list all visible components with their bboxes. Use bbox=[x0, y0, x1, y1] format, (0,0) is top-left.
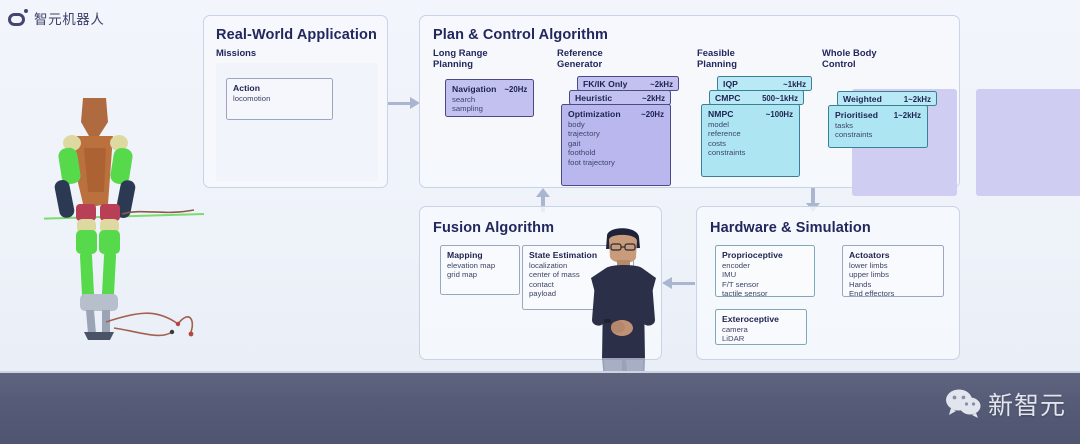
stage-floor bbox=[0, 373, 1080, 444]
card-proprioceptive-items: encoder IMU F/T sensor tactile sensor bbox=[722, 261, 808, 299]
card-optimization-items: body trajectory gait foothold foot traje… bbox=[568, 120, 664, 167]
card-fk-ik-only-name: FK/IK Only bbox=[583, 79, 627, 89]
card-actoators[interactable]: Actoators lower limbs upper limbs Hands … bbox=[842, 245, 944, 297]
card-optimization-rate: ~20Hz bbox=[641, 110, 664, 119]
stage-background: 智元机器人 Real-World Application Missions Ac… bbox=[0, 0, 1080, 444]
panel-title-real-world-application: Real-World Application bbox=[216, 27, 377, 43]
card-cmpc-rate: 500~1kHz bbox=[762, 94, 798, 103]
card-actoators-items: lower limbs upper limbs Hands End effect… bbox=[849, 261, 937, 299]
card-navigation-name: Navigation bbox=[452, 84, 496, 94]
column-feasible-planning: Feasible Planning bbox=[697, 47, 817, 70]
card-prioritised[interactable]: Prioritised 1~2kHz tasks constraints bbox=[828, 105, 928, 148]
card-heuristic-rate: ~2kHz bbox=[642, 94, 665, 103]
column-whole-body-control: Whole Body Control bbox=[822, 47, 942, 70]
card-exteroceptive-name: Exteroceptive bbox=[722, 314, 779, 324]
card-exteroceptive[interactable]: Exteroceptive camera LiDAR bbox=[715, 309, 807, 345]
card-iqp-rate: ~1kHz bbox=[783, 80, 806, 89]
card-weighted-rate: 1~2kHz bbox=[904, 95, 931, 104]
card-iqp[interactable]: IQP ~1kHz bbox=[717, 76, 812, 91]
card-action-items: locomotion bbox=[233, 94, 326, 103]
card-nmpc[interactable]: NMPC ~100Hz model reference costs constr… bbox=[701, 104, 800, 177]
column-title-whole-body-control: Whole Body Control bbox=[822, 47, 942, 70]
card-proprioceptive[interactable]: Proprioceptive encoder IMU F/T sensor ta… bbox=[715, 245, 815, 297]
card-nmpc-rate: ~100Hz bbox=[766, 110, 793, 119]
wechat-watermark: 新智元 bbox=[945, 386, 1066, 422]
card-cmpc[interactable]: CMPC 500~1kHz bbox=[709, 90, 804, 105]
card-exteroceptive-items: camera LiDAR bbox=[722, 325, 800, 344]
card-iqp-name: IQP bbox=[723, 79, 738, 89]
presentation-slide: 智元机器人 Real-World Application Missions Ac… bbox=[0, 0, 1080, 373]
card-fk-ik-only[interactable]: FK/IK Only ~2kHz bbox=[577, 76, 679, 91]
card-mapping[interactable]: Mapping elevation map grid map bbox=[440, 245, 520, 295]
card-cmpc-name: CMPC bbox=[715, 93, 741, 103]
card-action-name: Action bbox=[233, 83, 260, 93]
card-mapping-items: elevation map grid map bbox=[447, 261, 513, 280]
panel-title-hardware-simulation: Hardware & Simulation bbox=[710, 220, 871, 236]
group-missions: Action locomotion bbox=[216, 63, 378, 181]
card-navigation[interactable]: Navigation ~20Hz search sampling bbox=[445, 79, 534, 117]
card-nmpc-items: model reference costs constraints bbox=[708, 120, 793, 158]
column-title-reference-generator: Reference Generator bbox=[557, 47, 687, 70]
column-long-range-planning: Long Range Planning bbox=[433, 47, 553, 70]
card-mapping-name: Mapping bbox=[447, 250, 483, 260]
subtitle-missions: Missions bbox=[216, 47, 256, 58]
card-prioritised-name: Prioritised bbox=[835, 110, 878, 120]
panel-title-plan-control-algorithm: Plan & Control Algorithm bbox=[433, 27, 608, 43]
card-proprioceptive-name: Proprioceptive bbox=[722, 250, 783, 260]
card-prioritised-rate: 1~2kHz bbox=[894, 111, 921, 120]
card-navigation-rate: ~20Hz bbox=[504, 85, 527, 94]
robot-simulation-figure bbox=[44, 96, 204, 346]
card-prioritised-items: tasks constraints bbox=[835, 121, 921, 140]
column-title-feasible-planning: Feasible Planning bbox=[697, 47, 817, 70]
agibot-logo-icon bbox=[8, 11, 27, 26]
panel-plan-control-algorithm: Plan & Control Algorithm Long Range Plan… bbox=[419, 15, 960, 188]
watermark-text: 新智元 bbox=[988, 386, 1066, 422]
column-title-long-range-planning: Long Range Planning bbox=[433, 47, 553, 70]
panel-title-fusion-algorithm: Fusion Algorithm bbox=[433, 220, 554, 236]
column-reference-generator: Reference Generator bbox=[557, 47, 687, 70]
card-actoators-name: Actoators bbox=[849, 250, 890, 260]
arrow-application-to-plan bbox=[388, 97, 420, 109]
card-heuristic-name: Heuristic bbox=[575, 93, 612, 103]
card-heuristic[interactable]: Heuristic ~2kHz bbox=[569, 90, 671, 105]
wechat-icon bbox=[945, 389, 981, 419]
card-weighted-name: Weighted bbox=[843, 94, 882, 104]
card-nmpc-name: NMPC bbox=[708, 109, 734, 119]
card-weighted[interactable]: Weighted 1~2kHz bbox=[837, 91, 937, 106]
card-action[interactable]: Action locomotion bbox=[226, 78, 333, 120]
card-fk-ik-only-rate: ~2kHz bbox=[650, 80, 673, 89]
group-reference-generator bbox=[976, 89, 1080, 196]
brand-name: 智元机器人 bbox=[34, 8, 105, 28]
card-optimization[interactable]: Optimization ~20Hz body trajectory gait … bbox=[561, 104, 671, 186]
panel-hardware-simulation: Hardware & Simulation Proprioceptive enc… bbox=[696, 206, 960, 360]
brand-logo: 智元机器人 bbox=[8, 8, 105, 28]
card-optimization-name: Optimization bbox=[568, 109, 621, 119]
panel-real-world-application: Real-World Application Missions Action l… bbox=[203, 15, 388, 188]
card-navigation-items: search sampling bbox=[452, 95, 527, 114]
